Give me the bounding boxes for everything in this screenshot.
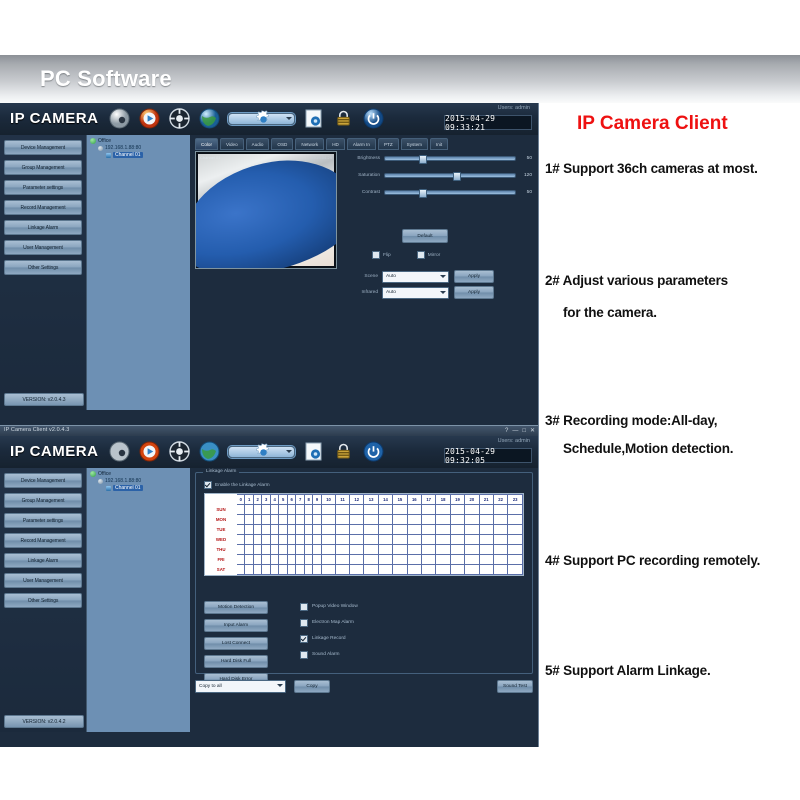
sound-test-button[interactable]: Sound Test bbox=[497, 680, 533, 693]
tree-node-device[interactable]: 192.168.1.88:80 bbox=[98, 478, 191, 484]
sched-cell[interactable] bbox=[421, 535, 435, 545]
input-alarm-button[interactable]: Input Alarm bbox=[204, 619, 268, 632]
tree-node-device-label: 192.168.1.88:80 bbox=[105, 478, 141, 484]
power-icon[interactable] bbox=[362, 440, 385, 463]
help-button[interactable]: ? bbox=[505, 427, 508, 435]
sched-cell[interactable] bbox=[245, 555, 253, 565]
window-controls: ? — □ ✕ bbox=[505, 427, 535, 435]
ip-camera-window-2: IP Camera Client v2.0.4.3 ? — □ ✕ IP CAM… bbox=[0, 425, 539, 747]
sched-cell[interactable] bbox=[436, 545, 450, 555]
sched-cell[interactable] bbox=[350, 545, 364, 555]
sidebar-item-group-management[interactable]: Group Management bbox=[4, 160, 82, 175]
sched-cell[interactable] bbox=[407, 515, 421, 525]
power-icon[interactable] bbox=[362, 107, 385, 130]
sched-cell[interactable] bbox=[421, 565, 435, 575]
sched-cell[interactable] bbox=[350, 535, 364, 545]
sched-cell[interactable] bbox=[407, 545, 421, 555]
feature-line-4: 4# Support PC recording remotely. bbox=[545, 553, 760, 568]
hour-14: 14 bbox=[378, 495, 392, 505]
hour-19: 19 bbox=[450, 495, 464, 505]
sched-cell[interactable] bbox=[350, 515, 364, 525]
sched-cell[interactable] bbox=[350, 525, 364, 535]
tab-color[interactable]: Color bbox=[195, 138, 218, 150]
sched-cell[interactable] bbox=[270, 555, 278, 565]
sched-cell[interactable] bbox=[508, 545, 523, 555]
playback-icon[interactable] bbox=[138, 107, 161, 130]
sched-cell[interactable] bbox=[479, 525, 493, 535]
sched-cell[interactable] bbox=[364, 535, 378, 545]
sidebar-item-other-settings[interactable]: Other Settings bbox=[4, 260, 82, 275]
sched-cell[interactable] bbox=[436, 515, 450, 525]
flip-checkbox-box[interactable] bbox=[372, 251, 380, 259]
electron-map-alarm-checkbox[interactable]: Electron Map Alarm bbox=[300, 617, 358, 628]
sched-cell[interactable] bbox=[262, 555, 270, 565]
sched-cell[interactable] bbox=[245, 565, 253, 575]
scene-apply-button[interactable]: Apply bbox=[454, 270, 494, 283]
table-row: SAT bbox=[206, 565, 523, 575]
motion-detection-button[interactable]: Motion Detection bbox=[204, 601, 268, 614]
brightness-slider[interactable] bbox=[384, 156, 516, 161]
sched-cell[interactable] bbox=[479, 565, 493, 575]
feature-line-2b: for the camera. bbox=[563, 305, 657, 320]
sched-cell[interactable] bbox=[296, 555, 304, 565]
playback-icon[interactable] bbox=[138, 440, 161, 463]
tab-osd[interactable]: OSD bbox=[271, 138, 293, 150]
sched-cell[interactable] bbox=[350, 505, 364, 515]
sched-cell[interactable] bbox=[450, 535, 464, 545]
sched-cell[interactable] bbox=[364, 505, 378, 515]
sched-cell[interactable] bbox=[421, 515, 435, 525]
channel-icon bbox=[106, 153, 111, 158]
sched-cell[interactable] bbox=[304, 555, 312, 565]
sched-cell[interactable] bbox=[270, 525, 278, 535]
hour-2: 2 bbox=[253, 495, 261, 505]
sched-cell[interactable] bbox=[378, 555, 392, 565]
sched-cell[interactable] bbox=[336, 515, 350, 525]
sched-cell[interactable] bbox=[336, 545, 350, 555]
sched-cell[interactable] bbox=[364, 515, 378, 525]
sched-cell[interactable] bbox=[262, 515, 270, 525]
sched-cell[interactable] bbox=[378, 545, 392, 555]
sched-cell[interactable] bbox=[321, 525, 335, 535]
window2-sidebar: Device Management Group Management Param… bbox=[0, 468, 86, 732]
hour-7: 7 bbox=[296, 495, 304, 505]
sched-cell[interactable] bbox=[296, 545, 304, 555]
sched-cell[interactable] bbox=[465, 555, 479, 565]
sched-cell[interactable] bbox=[321, 555, 335, 565]
schedule-corner-cell bbox=[206, 495, 237, 505]
sched-cell[interactable] bbox=[436, 565, 450, 575]
sched-cell[interactable] bbox=[393, 525, 407, 535]
enable-linkage-alarm-checkbox[interactable]: Enable the Linkage Alarm bbox=[204, 481, 270, 489]
sched-cell[interactable] bbox=[321, 565, 335, 575]
sched-cell[interactable] bbox=[336, 555, 350, 565]
popup-video-window-box[interactable] bbox=[300, 603, 308, 611]
gear-icon[interactable] bbox=[228, 446, 295, 458]
sched-cell[interactable] bbox=[493, 535, 507, 545]
sched-cell[interactable] bbox=[270, 535, 278, 545]
infrared-row: Infrared Auto Apply bbox=[342, 287, 502, 298]
mirror-checkbox[interactable]: Mirror bbox=[417, 251, 441, 259]
window2-device-tree[interactable]: Office 192.168.1.88:80 Channel 01 bbox=[86, 468, 192, 732]
sidebar-item-linkage-alarm[interactable]: Linkage Alarm bbox=[4, 220, 82, 235]
lock-icon[interactable] bbox=[332, 440, 355, 463]
sched-cell[interactable] bbox=[479, 545, 493, 555]
sched-cell[interactable] bbox=[296, 505, 304, 515]
tab-system[interactable]: System bbox=[401, 138, 428, 150]
ptz-wheel-icon[interactable] bbox=[168, 107, 191, 130]
sched-cell[interactable] bbox=[253, 515, 261, 525]
linkage-record-checkbox[interactable]: Linkage Record bbox=[300, 633, 358, 644]
sched-cell[interactable] bbox=[350, 555, 364, 565]
sched-cell[interactable] bbox=[508, 555, 523, 565]
sched-cell[interactable] bbox=[479, 515, 493, 525]
sched-cell[interactable] bbox=[493, 565, 507, 575]
window1-brand-logo: IP CAMERA bbox=[10, 110, 98, 127]
sched-cell[interactable] bbox=[245, 505, 253, 515]
tree-node-channel-label: Channel 01 bbox=[113, 152, 143, 158]
sched-cell[interactable] bbox=[279, 505, 287, 515]
sched-cell[interactable] bbox=[421, 525, 435, 535]
sched-cell[interactable] bbox=[393, 565, 407, 575]
saturation-slider[interactable] bbox=[384, 173, 516, 178]
channel-icon bbox=[106, 486, 111, 491]
tree-node-office-label: Office bbox=[98, 138, 111, 144]
sched-cell[interactable] bbox=[450, 505, 464, 515]
tab-hd[interactable]: HD bbox=[326, 138, 345, 150]
sched-cell[interactable] bbox=[364, 545, 378, 555]
sched-cell[interactable] bbox=[245, 525, 253, 535]
table-row: SUN bbox=[206, 505, 523, 515]
sched-cell[interactable] bbox=[465, 515, 479, 525]
sched-cell[interactable] bbox=[493, 505, 507, 515]
sched-cell[interactable] bbox=[407, 565, 421, 575]
copy-to-select[interactable]: Copy to all bbox=[195, 680, 286, 693]
sidebar-item-record-management[interactable]: Record Management bbox=[4, 533, 82, 548]
sched-cell[interactable] bbox=[436, 555, 450, 565]
sched-cell[interactable] bbox=[336, 535, 350, 545]
sidebar-item-record-management[interactable]: Record Management bbox=[4, 200, 82, 215]
sched-cell[interactable] bbox=[508, 565, 523, 575]
sched-cell[interactable] bbox=[270, 565, 278, 575]
hour-16: 16 bbox=[407, 495, 421, 505]
sched-cell[interactable] bbox=[262, 525, 270, 535]
scene-select[interactable]: Auto bbox=[382, 271, 449, 283]
day-tue: TUE bbox=[206, 525, 237, 535]
sched-cell[interactable] bbox=[253, 505, 261, 515]
sched-cell[interactable] bbox=[450, 555, 464, 565]
sched-cell[interactable] bbox=[279, 515, 287, 525]
sched-cell[interactable] bbox=[262, 545, 270, 555]
sched-cell[interactable] bbox=[508, 505, 523, 515]
tab-ptz[interactable]: PTZ bbox=[378, 138, 399, 150]
video-frame bbox=[198, 154, 334, 266]
lock-icon[interactable] bbox=[332, 107, 355, 130]
ptz-wheel-icon[interactable] bbox=[168, 440, 191, 463]
dome-camera-icon[interactable] bbox=[108, 440, 131, 463]
copy-button[interactable]: Copy bbox=[294, 680, 330, 693]
sched-cell[interactable] bbox=[450, 515, 464, 525]
sched-cell[interactable] bbox=[313, 565, 321, 575]
sched-cell[interactable] bbox=[378, 525, 392, 535]
sched-cell[interactable] bbox=[393, 515, 407, 525]
mirror-label: Mirror bbox=[428, 253, 441, 258]
default-button[interactable]: Default bbox=[402, 229, 448, 243]
gear-icon[interactable] bbox=[228, 113, 295, 125]
table-row: FRI bbox=[206, 555, 523, 565]
sched-cell[interactable] bbox=[493, 545, 507, 555]
schedule-grid[interactable]: 0 1 2 3 4 5 6 7 8 9 10 11 12 bbox=[204, 493, 524, 576]
sched-cell[interactable] bbox=[313, 555, 321, 565]
sched-cell[interactable] bbox=[304, 565, 312, 575]
sched-cell[interactable] bbox=[479, 555, 493, 565]
sidebar-item-group-management[interactable]: Group Management bbox=[4, 493, 82, 508]
sched-cell[interactable] bbox=[421, 555, 435, 565]
marketing-title: IP Camera Client bbox=[577, 113, 728, 135]
sched-cell[interactable] bbox=[287, 565, 295, 575]
feature-line-1: 1# Support 36ch cameras at most. bbox=[545, 161, 758, 176]
sched-cell[interactable] bbox=[393, 505, 407, 515]
sched-cell[interactable] bbox=[465, 525, 479, 535]
sched-cell[interactable] bbox=[253, 565, 261, 575]
sched-cell[interactable] bbox=[493, 555, 507, 565]
table-row: MON bbox=[206, 515, 523, 525]
sched-cell[interactable] bbox=[304, 545, 312, 555]
sound-alarm-box[interactable] bbox=[300, 651, 308, 659]
sched-cell[interactable] bbox=[237, 535, 245, 545]
tree-node-device-label: 192.168.1.88:80 bbox=[105, 145, 141, 151]
sched-cell[interactable] bbox=[253, 555, 261, 565]
sched-cell[interactable] bbox=[378, 565, 392, 575]
sched-cell[interactable] bbox=[493, 515, 507, 525]
sched-cell[interactable] bbox=[287, 535, 295, 545]
video-osd-date: 2015-04-29 bbox=[312, 155, 332, 160]
sched-cell[interactable] bbox=[407, 505, 421, 515]
sched-cell[interactable] bbox=[364, 555, 378, 565]
sound-alarm-label: Sound Alarm bbox=[312, 652, 339, 657]
sidebar-item-parameter-settings[interactable]: Parameter settings bbox=[4, 513, 82, 528]
sched-cell[interactable] bbox=[465, 505, 479, 515]
sound-alarm-checkbox[interactable]: Sound Alarm bbox=[300, 649, 358, 660]
sched-cell[interactable] bbox=[465, 535, 479, 545]
sched-cell[interactable] bbox=[321, 505, 335, 515]
sched-cell[interactable] bbox=[287, 505, 295, 515]
sidebar-item-user-management[interactable]: User Management bbox=[4, 573, 82, 588]
sched-cell[interactable] bbox=[279, 555, 287, 565]
sidebar-item-other-settings[interactable]: Other Settings bbox=[4, 593, 82, 608]
sched-cell[interactable] bbox=[450, 565, 464, 575]
sched-cell[interactable] bbox=[450, 525, 464, 535]
flip-checkbox[interactable]: Flip bbox=[372, 251, 391, 259]
tab-init[interactable]: Init bbox=[430, 138, 448, 150]
lost-connect-button[interactable]: Lost Connect bbox=[204, 637, 268, 650]
tab-video[interactable]: Video bbox=[220, 138, 244, 150]
popup-video-window-checkbox[interactable]: Popup Video Window bbox=[300, 601, 358, 612]
sched-cell[interactable] bbox=[407, 555, 421, 565]
electron-map-alarm-box[interactable] bbox=[300, 619, 308, 627]
maximize-button[interactable]: □ bbox=[522, 427, 526, 435]
tab-alarm-in[interactable]: Alarm In bbox=[347, 138, 376, 150]
sched-cell[interactable] bbox=[296, 565, 304, 575]
hour-23: 23 bbox=[508, 495, 523, 505]
saturation-row: Saturation 120 bbox=[342, 170, 532, 180]
sched-cell[interactable] bbox=[304, 535, 312, 545]
sched-cell[interactable] bbox=[450, 545, 464, 555]
sched-cell[interactable] bbox=[364, 525, 378, 535]
sched-cell[interactable] bbox=[296, 535, 304, 545]
sidebar-item-device-management[interactable]: Device Management bbox=[4, 473, 82, 488]
sched-cell[interactable] bbox=[245, 515, 253, 525]
record-document-icon[interactable] bbox=[302, 440, 325, 463]
contrast-slider[interactable] bbox=[384, 190, 516, 195]
sched-cell[interactable] bbox=[350, 565, 364, 575]
sched-cell[interactable] bbox=[378, 515, 392, 525]
sched-cell[interactable] bbox=[262, 535, 270, 545]
globe-icon[interactable] bbox=[198, 440, 221, 463]
linkage-alarm-group: Linkage Alarm Enable the Linkage Alarm 0… bbox=[195, 472, 533, 674]
sched-cell[interactable] bbox=[378, 505, 392, 515]
sched-cell[interactable] bbox=[479, 505, 493, 515]
globe-icon[interactable] bbox=[198, 107, 221, 130]
tree-node-office-label: Office bbox=[98, 471, 111, 477]
window2-user-label: Users: admin bbox=[498, 438, 530, 444]
tab-audio[interactable]: Audio bbox=[246, 138, 270, 150]
scene-infrared-group: Scene Auto Apply Infrared Auto Apply bbox=[342, 266, 502, 298]
sched-cell[interactable] bbox=[393, 555, 407, 565]
sched-cell[interactable] bbox=[436, 535, 450, 545]
window2-title: IP Camera Client v2.0.4.3 bbox=[4, 427, 69, 433]
linkage-record-box[interactable] bbox=[300, 635, 308, 643]
tree-node-office[interactable]: Office bbox=[90, 471, 191, 477]
sched-cell[interactable] bbox=[253, 525, 261, 535]
sched-cell[interactable] bbox=[493, 525, 507, 535]
sched-cell[interactable] bbox=[262, 565, 270, 575]
mirror-checkbox-box[interactable] bbox=[417, 251, 425, 259]
sched-cell[interactable] bbox=[304, 515, 312, 525]
record-document-icon[interactable] bbox=[302, 107, 325, 130]
sched-cell[interactable] bbox=[287, 555, 295, 565]
sidebar-item-user-management[interactable]: User Management bbox=[4, 240, 82, 255]
sched-cell[interactable] bbox=[237, 505, 245, 515]
tree-node-channel[interactable]: Channel 01 bbox=[106, 152, 191, 158]
sched-cell[interactable] bbox=[270, 545, 278, 555]
sched-cell[interactable] bbox=[313, 515, 321, 525]
sched-cell[interactable] bbox=[508, 515, 523, 525]
sidebar-item-device-management[interactable]: Device Management bbox=[4, 140, 82, 155]
sched-cell[interactable] bbox=[364, 565, 378, 575]
enable-linkage-alarm-box[interactable] bbox=[204, 481, 212, 489]
sched-cell[interactable] bbox=[304, 505, 312, 515]
tab-network[interactable]: Network bbox=[295, 138, 324, 150]
sched-cell[interactable] bbox=[436, 505, 450, 515]
sched-cell[interactable] bbox=[279, 535, 287, 545]
sched-cell[interactable] bbox=[262, 505, 270, 515]
sched-cell[interactable] bbox=[296, 515, 304, 525]
sched-cell[interactable] bbox=[270, 505, 278, 515]
sched-cell[interactable] bbox=[245, 545, 253, 555]
tree-node-device[interactable]: 192.168.1.88:80 bbox=[98, 145, 191, 151]
window2-clock: 2015-04-29 09:32:05 bbox=[444, 448, 532, 463]
infrared-select[interactable]: Auto bbox=[382, 287, 449, 299]
sched-cell[interactable] bbox=[407, 525, 421, 535]
sched-cell[interactable] bbox=[321, 535, 335, 545]
sched-cell[interactable] bbox=[313, 505, 321, 515]
close-button[interactable]: ✕ bbox=[530, 427, 535, 435]
sched-cell[interactable] bbox=[237, 555, 245, 565]
sched-cell[interactable] bbox=[237, 525, 245, 535]
sched-cell[interactable] bbox=[378, 535, 392, 545]
window1-header: IP CAMERA bbox=[0, 103, 538, 136]
window1-device-tree[interactable]: Office 192.168.1.88:80 Channel 01 bbox=[86, 135, 192, 410]
sched-cell[interactable] bbox=[279, 565, 287, 575]
sched-cell[interactable] bbox=[313, 545, 321, 555]
device-icon bbox=[98, 146, 103, 151]
sched-cell[interactable] bbox=[336, 525, 350, 535]
window2-body: Device Management Group Management Param… bbox=[0, 468, 538, 732]
sched-cell[interactable] bbox=[421, 505, 435, 515]
sched-cell[interactable] bbox=[313, 525, 321, 535]
sched-cell[interactable] bbox=[237, 565, 245, 575]
day-wed: WED bbox=[206, 535, 237, 545]
sched-cell[interactable] bbox=[393, 545, 407, 555]
sched-cell[interactable] bbox=[436, 525, 450, 535]
sched-cell[interactable] bbox=[393, 535, 407, 545]
hard-disk-full-button[interactable]: Hard Disk Full bbox=[204, 655, 268, 668]
video-preview[interactable]: Channel 01 2015-04-29 bbox=[195, 151, 337, 269]
sched-cell[interactable] bbox=[407, 535, 421, 545]
sched-cell[interactable] bbox=[253, 545, 261, 555]
feature-line-3b: Schedule,Motion detection. bbox=[563, 441, 733, 456]
sched-cell[interactable] bbox=[237, 545, 245, 555]
sched-cell[interactable] bbox=[321, 545, 335, 555]
sched-cell[interactable] bbox=[287, 525, 295, 535]
sched-cell[interactable] bbox=[479, 535, 493, 545]
sched-cell[interactable] bbox=[465, 545, 479, 555]
tree-node-channel[interactable]: Channel 01 bbox=[106, 485, 191, 491]
minimize-button[interactable]: — bbox=[512, 427, 518, 435]
sched-cell[interactable] bbox=[279, 525, 287, 535]
device-icon bbox=[98, 479, 103, 484]
sched-cell[interactable] bbox=[279, 545, 287, 555]
sidebar-item-parameter-settings[interactable]: Parameter settings bbox=[4, 180, 82, 195]
sched-cell[interactable] bbox=[253, 535, 261, 545]
sched-cell[interactable] bbox=[287, 545, 295, 555]
sched-cell[interactable] bbox=[304, 525, 312, 535]
contrast-label: Contrast bbox=[342, 190, 384, 195]
feature-line-3: 3# Recording mode:All-day, bbox=[545, 413, 717, 428]
sched-cell[interactable] bbox=[336, 565, 350, 575]
alarm-type-buttons: Motion Detection Input Alarm Lost Connec… bbox=[204, 601, 268, 691]
sched-cell[interactable] bbox=[313, 535, 321, 545]
sched-cell[interactable] bbox=[245, 535, 253, 545]
sched-cell[interactable] bbox=[508, 525, 523, 535]
sched-cell[interactable] bbox=[296, 525, 304, 535]
dome-camera-icon[interactable] bbox=[108, 107, 131, 130]
tree-node-office[interactable]: Office bbox=[90, 138, 191, 144]
linkage-footer-row: Copy to all Copy Sound Test bbox=[195, 680, 533, 693]
sched-cell[interactable] bbox=[336, 505, 350, 515]
sched-cell[interactable] bbox=[321, 515, 335, 525]
electron-map-alarm-label: Electron Map Alarm bbox=[312, 620, 354, 625]
sched-cell[interactable] bbox=[421, 545, 435, 555]
sched-cell[interactable] bbox=[508, 535, 523, 545]
sched-cell[interactable] bbox=[287, 515, 295, 525]
sched-cell[interactable] bbox=[270, 515, 278, 525]
sidebar-item-linkage-alarm[interactable]: Linkage Alarm bbox=[4, 553, 82, 568]
sched-cell[interactable] bbox=[465, 565, 479, 575]
sched-cell[interactable] bbox=[237, 515, 245, 525]
infrared-apply-button[interactable]: Apply bbox=[454, 286, 494, 299]
